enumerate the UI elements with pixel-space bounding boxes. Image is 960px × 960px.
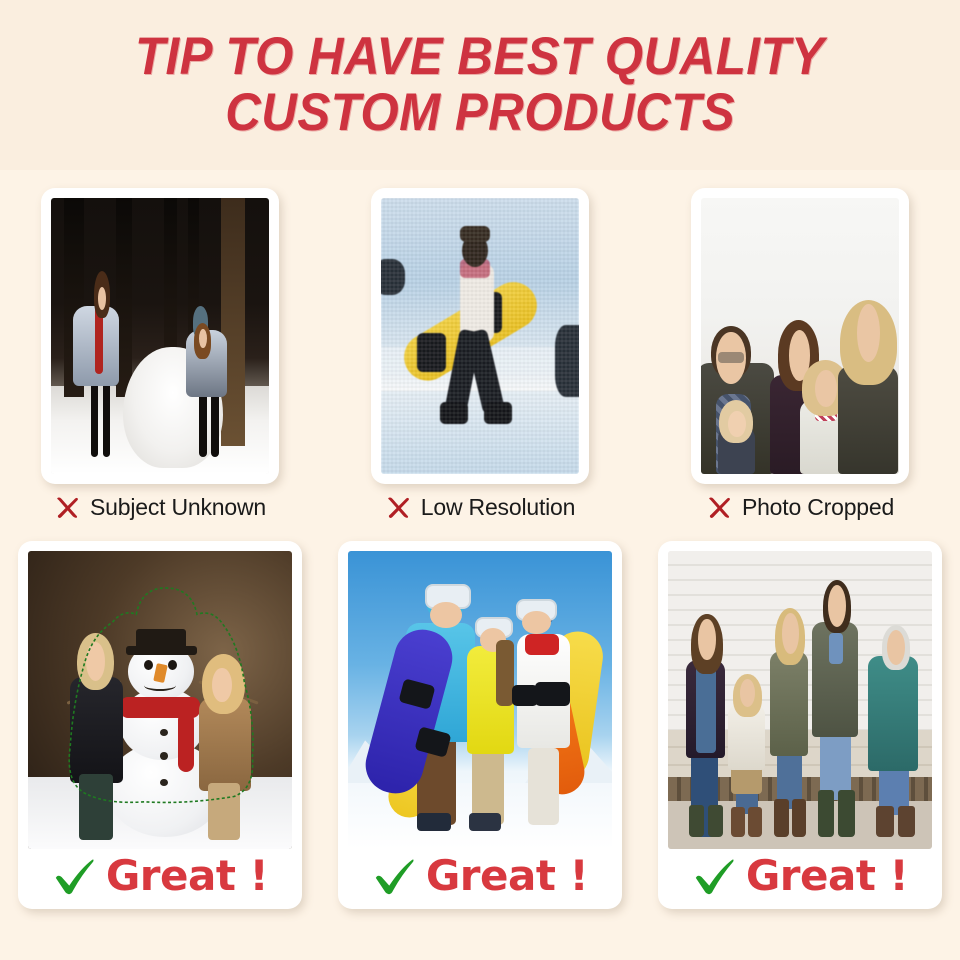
caption-low-resolution: Low Resolution: [385, 494, 575, 521]
caption-text: Photo Cropped: [742, 494, 894, 521]
great-label: Great !: [668, 851, 932, 900]
good-examples-row: Great !: [0, 535, 960, 955]
photo-cropped: [701, 198, 899, 474]
photo-three-snowboarders: [348, 551, 612, 849]
great-text: Great !: [106, 851, 268, 900]
good-example-3: Great !: [640, 535, 960, 955]
caption-text: Subject Unknown: [90, 494, 266, 521]
bad-example-2: Low Resolution: [320, 170, 640, 530]
photo-card: Great !: [658, 541, 942, 909]
photo-low-resolution: [381, 198, 579, 474]
photo-card: Great !: [338, 541, 622, 909]
great-text: Great !: [426, 851, 588, 900]
selection-outline-icon: [28, 551, 292, 815]
photo-card: [691, 188, 909, 484]
tips-infographic: TIP TO HAVE BEST QUALITY CUSTOM PRODUCTS: [0, 0, 960, 960]
x-mark-icon: [54, 494, 81, 521]
header-banner: TIP TO HAVE BEST QUALITY CUSTOM PRODUCTS: [0, 0, 960, 170]
caption-text: Low Resolution: [421, 494, 575, 521]
caption-photo-cropped: Photo Cropped: [706, 494, 894, 521]
check-mark-icon: [52, 853, 98, 899]
x-mark-icon: [385, 494, 412, 521]
bad-examples-row: Subject Unknown: [0, 170, 960, 530]
great-text: Great !: [746, 851, 908, 900]
check-mark-icon: [372, 853, 418, 899]
photo-snowman-cutout: [28, 551, 292, 849]
page-title-line-1: TIP TO HAVE BEST QUALITY: [135, 30, 824, 84]
examples-grid: Subject Unknown: [0, 170, 960, 960]
photo-card: Great !: [18, 541, 302, 909]
bad-example-3: Photo Cropped: [640, 170, 960, 530]
photo-family-barn: [668, 551, 932, 849]
caption-subject-unknown: Subject Unknown: [54, 494, 266, 521]
great-label: Great !: [348, 851, 612, 900]
page-title-line-2: CUSTOM PRODUCTS: [225, 86, 735, 140]
check-mark-icon: [692, 853, 738, 899]
great-label: Great !: [28, 851, 292, 900]
photo-card: [41, 188, 279, 484]
bad-example-1: Subject Unknown: [0, 170, 320, 530]
x-mark-icon: [706, 494, 733, 521]
photo-card: [371, 188, 589, 484]
good-example-1: Great !: [0, 535, 320, 955]
good-example-2: Great !: [320, 535, 640, 955]
photo-subject-unknown: [51, 198, 269, 474]
